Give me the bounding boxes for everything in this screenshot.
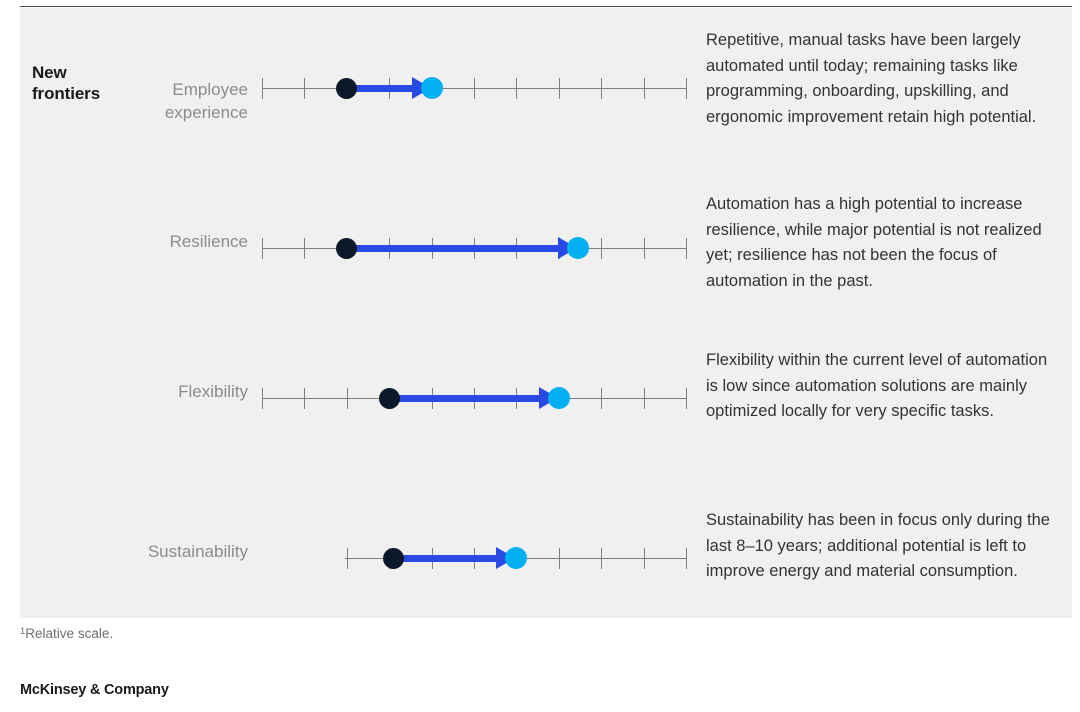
row-description: Automation has a high potential to incre…: [706, 192, 1051, 294]
axis-tick: [644, 78, 645, 99]
potential-level-marker: [548, 387, 570, 409]
transition-arrow-shaft: [393, 555, 497, 562]
potential-level-marker: [567, 237, 589, 259]
current-level-marker: [336, 78, 357, 99]
transition-arrow-shaft: [389, 395, 540, 402]
axis-tick: [686, 238, 687, 259]
axis-tick: [559, 548, 560, 569]
current-level-marker: [383, 548, 404, 569]
current-level-marker: [379, 388, 400, 409]
chart-row-flexibility: Flexibility Flexibility within the curre…: [0, 330, 1080, 490]
axis-tick: [262, 388, 263, 409]
row-label: Employeeexperience: [30, 78, 248, 124]
row-description: Repetitive, manual tasks have been large…: [706, 28, 1051, 130]
transition-arrow-shaft: [347, 245, 559, 252]
axis-tick: [601, 548, 602, 569]
axis-tick: [644, 388, 645, 409]
axis-tick: [304, 238, 305, 259]
row-label: Resilience: [30, 230, 248, 253]
axis-tick: [304, 78, 305, 99]
row-label: Flexibility: [30, 380, 248, 403]
axis-tick: [304, 388, 305, 409]
axis-tick: [347, 548, 348, 569]
footnote: 1Relative scale.: [20, 626, 113, 641]
axis-tick: [262, 78, 263, 99]
footnote-text: Relative scale.: [25, 626, 113, 641]
top-divider-rule: [20, 6, 1072, 7]
row-description: Flexibility within the current level of …: [706, 348, 1051, 425]
axis-tick: [686, 78, 687, 99]
axis-tick: [644, 238, 645, 259]
axis-tick: [559, 78, 560, 99]
axis-tick: [474, 78, 475, 99]
chart-row-sustainability: Sustainability Sustainability has been i…: [0, 490, 1080, 650]
axis-tick: [601, 388, 602, 409]
axis-tick: [686, 548, 687, 569]
potential-level-marker: [505, 547, 527, 569]
row-label: Sustainability: [30, 540, 248, 563]
chart-row-employee-experience: Employeeexperience Repetitive, manual ta…: [0, 20, 1080, 180]
potential-level-marker: [421, 77, 443, 99]
axis-tick: [686, 388, 687, 409]
chart-row-resilience: Resilience Automation has a high potenti…: [0, 180, 1080, 340]
axis-tick: [262, 238, 263, 259]
current-level-marker: [336, 238, 357, 259]
axis-tick: [347, 388, 348, 409]
axis-tick: [516, 78, 517, 99]
axis-tick: [601, 238, 602, 259]
axis-tick: [644, 548, 645, 569]
axis-tick: [601, 78, 602, 99]
row-description: Sustainability has been in focus only du…: [706, 508, 1051, 585]
brand-mckinsey: McKinsey & Company: [20, 682, 169, 698]
